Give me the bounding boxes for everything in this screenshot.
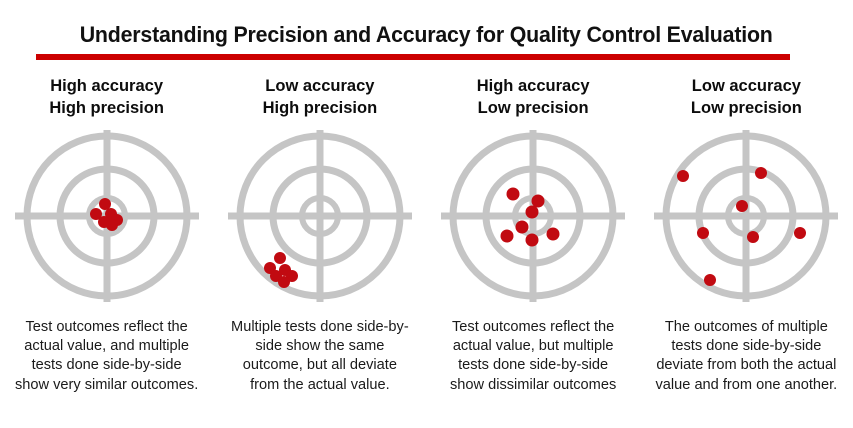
panel-high-accuracy-high-precision: High accuracy High precision Test outcom… [0,76,213,395]
panel-heading: High accuracy Low precision [477,76,590,120]
title-underline-rule [36,54,790,60]
panel-high-accuracy-low-precision: High accuracy Low precision Test outcome… [427,76,640,395]
measurement-dot [704,274,716,286]
measurement-dot [106,219,118,231]
infographic-page: Understanding Precision and Accuracy for… [0,0,853,428]
panels-row: High accuracy High precision Test outcom… [0,76,853,395]
target-diagram-3 [433,130,633,302]
measurement-dot [677,170,689,182]
panel-heading-line1: Low accuracy [263,76,378,98]
panel-low-accuracy-low-precision: Low accuracy Low precision The outcomes … [640,76,853,395]
target-diagram-1 [7,130,207,302]
panel-heading-line1: Low accuracy [691,76,802,98]
panel-caption: Test outcomes reflect the actual value, … [440,318,626,396]
measurement-dot [794,227,806,239]
measurement-dot [697,227,709,239]
measurement-dot [278,276,290,288]
measurement-dot [99,198,111,210]
crosshair-lines-4 [654,130,838,302]
measurement-dot [532,194,545,207]
target-diagram-4 [646,130,846,302]
measurement-dot [526,205,539,218]
measurement-dot [736,200,748,212]
crosshair-lines-2 [228,130,412,302]
panel-heading-line2: Low precision [477,98,590,120]
panel-heading: Low accuracy Low precision [691,76,802,120]
panel-heading-line2: High precision [263,98,378,120]
measurement-dot [274,252,286,264]
measurement-dot [526,233,539,246]
page-title: Understanding Precision and Accuracy for… [80,22,773,48]
measurement-dot [755,167,767,179]
dot-group-4 [677,167,806,286]
target-svg-1 [7,130,207,302]
panel-heading: High accuracy High precision [49,76,164,120]
target-svg-4 [646,130,846,302]
panel-heading-line1: High accuracy [49,76,164,98]
panel-heading-line2: Low precision [691,98,802,120]
panel-heading-line1: High accuracy [477,76,590,98]
panel-heading: Low accuracy High precision [263,76,378,120]
panel-caption: The outcomes of multiple tests done side… [653,318,839,396]
measurement-dot [747,231,759,243]
measurement-dot [547,227,560,240]
target-diagram-2 [220,130,420,302]
panel-low-accuracy-high-precision: Low accuracy High precision Multiple tes… [213,76,426,395]
title-container: Understanding Precision and Accuracy for… [0,22,853,48]
target-svg-3 [433,130,633,302]
panel-heading-line2: High precision [49,98,164,120]
measurement-dot [501,229,514,242]
measurement-dot [516,220,529,233]
panel-caption: Multiple tests done side-by-side show th… [227,318,413,396]
panel-caption: Test outcomes reflect the actual value, … [14,318,200,396]
measurement-dot [507,187,520,200]
target-svg-2 [220,130,420,302]
